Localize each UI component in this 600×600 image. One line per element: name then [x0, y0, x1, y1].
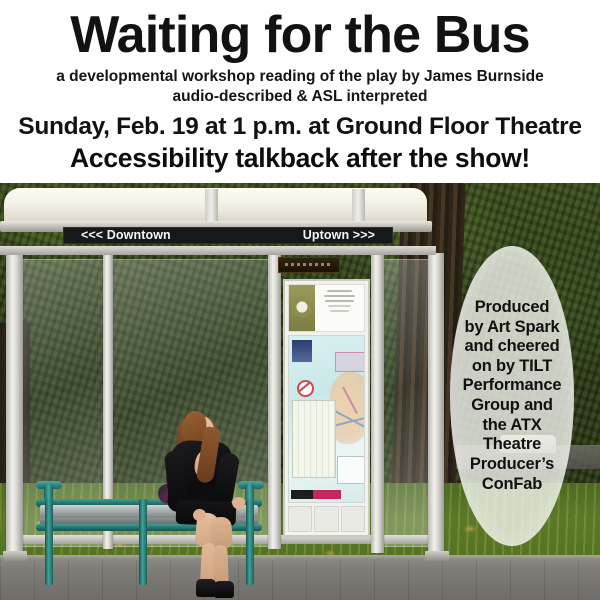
page-title: Waiting for the Bus — [0, 0, 600, 64]
right-shoe — [214, 581, 234, 598]
credit-badge: Producedby Art Sparkand cheeredon by TIL… — [450, 246, 574, 546]
left-shoe — [196, 579, 216, 597]
talkback-headline: Accessibility talkback after the show! — [0, 141, 600, 174]
poster-root: Waiting for the Bus a developmental work… — [0, 0, 600, 600]
header-text-block: Waiting for the Bus a developmental work… — [0, 0, 600, 183]
event-datetime: Sunday, Feb. 19 at 1 p.m. at Ground Floo… — [0, 108, 600, 141]
credit-badge-text: Producedby Art Sparkand cheeredon by TIL… — [463, 298, 562, 494]
bus-stop-photo: <<< Downtown Uptown >>> — [0, 183, 600, 600]
subtitle-line-1: a developmental workshop reading of the … — [0, 64, 600, 87]
subtitle-line-2: audio-described & ASL interpreted — [0, 87, 600, 107]
